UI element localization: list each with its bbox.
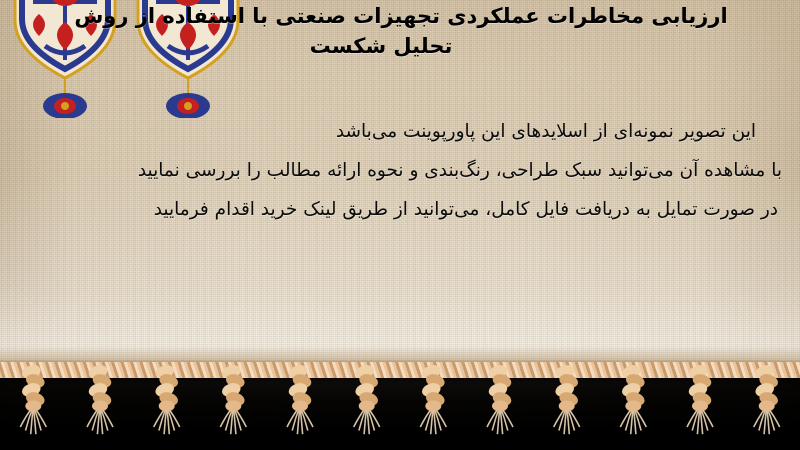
- presentation-slide: ارزیابی مخاطرات عملکردی تجهیزات صنعتی با…: [0, 0, 800, 450]
- slide-body-text: این تصویر نمونه‌ای از اسلایدهای این پاور…: [12, 112, 784, 229]
- slide-title-line-1: ارزیابی مخاطرات عملکردی تجهیزات صنعتی با…: [16, 2, 786, 32]
- slide-title: ارزیابی مخاطرات عملکردی تجهیزات صنعتی با…: [16, 2, 786, 62]
- tassel: [18, 363, 49, 436]
- tassel: [618, 363, 649, 436]
- body-line-2: با مشاهده آن می‌توانید سبک طراحی، رنگ‌بن…: [12, 151, 784, 190]
- tassel: [418, 363, 449, 436]
- carpet-fringe: [0, 346, 800, 450]
- body-line-1: این تصویر نمونه‌ای از اسلایدهای این پاور…: [12, 112, 784, 151]
- tassel: [751, 363, 782, 436]
- tassel: [484, 363, 515, 436]
- tassel: [284, 363, 315, 436]
- tassel: [84, 363, 115, 436]
- body-line-3: در صورت تمایل به دریافت فایل کامل، می‌تو…: [12, 190, 784, 229]
- tassel: [151, 363, 182, 436]
- slide-title-line-2: تحلیل شکست: [16, 32, 786, 62]
- tassel: [684, 363, 715, 436]
- tassel: [351, 363, 382, 436]
- tassel: [551, 363, 582, 436]
- tassel: [218, 363, 249, 436]
- tassel-group: [0, 346, 800, 450]
